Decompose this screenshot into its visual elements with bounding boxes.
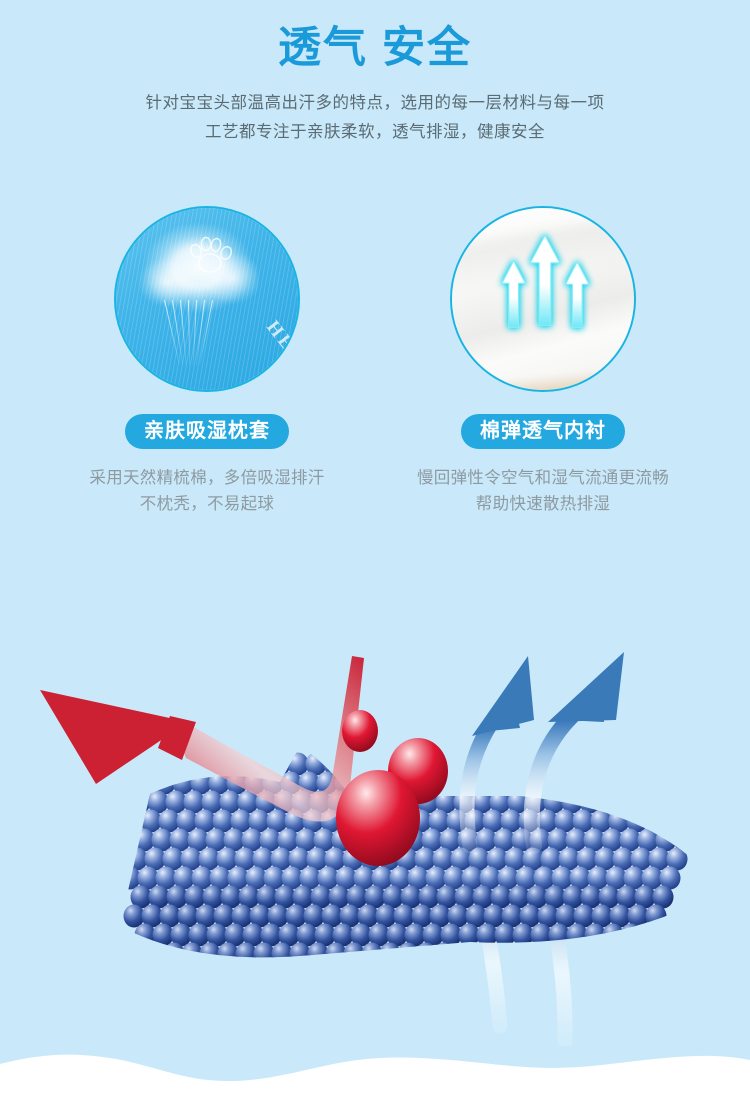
red-sweat-droplet xyxy=(342,710,378,752)
airflow-illustration xyxy=(0,596,750,1046)
feature-row: HER 亲肤吸湿枕套 采用天然精梳棉，多倍吸湿排汗 不枕秃，不易起球 xyxy=(0,206,750,518)
lining-photo-circle xyxy=(450,206,636,392)
feature-desc-lining: 慢回弹性令空气和湿气流通更流畅 帮助快速散热排湿 xyxy=(417,465,669,518)
page-title: 透气 安全 xyxy=(0,26,750,71)
desc-line-1: 慢回弹性令空气和湿气流通更流畅 xyxy=(417,465,669,491)
subtitle-line-2: 工艺都专注于亲肤柔软，透气排湿，健康安全 xyxy=(0,118,750,147)
pillowcase-photo-circle: HER xyxy=(114,206,300,392)
page-subtitle: 针对宝宝头部温高出汗多的特点，选用的每一层材料与每一项 工艺都专注于亲肤柔软，透… xyxy=(0,89,750,147)
desc-line-2: 不枕秃，不易起球 xyxy=(89,491,324,517)
desc-line-1: 采用天然精梳棉，多倍吸湿排汗 xyxy=(89,465,324,491)
breathability-arrows-group xyxy=(452,208,634,390)
wicking-streaks xyxy=(162,300,232,372)
product-detail-page: 透气 安全 针对宝宝头部温高出汗多的特点，选用的每一层材料与每一项 工艺都专注于… xyxy=(0,0,750,1108)
feature-desc-pillowcase: 采用天然精梳棉，多倍吸湿排汗 不枕秃，不易起球 xyxy=(89,465,324,518)
feature-pill-lining: 棉弹透气内衬 xyxy=(461,414,625,449)
red-sweat-droplet xyxy=(336,770,420,866)
mesh-airflow-svg xyxy=(0,596,750,1046)
subtitle-line-1: 针对宝宝头部温高出汗多的特点，选用的每一层材料与每一项 xyxy=(0,89,750,118)
paw-print-icon xyxy=(186,236,234,276)
feature-pill-pillowcase: 亲肤吸湿枕套 xyxy=(125,414,289,449)
page-header: 透气 安全 针对宝宝头部温高出汗多的特点，选用的每一层材料与每一项 工艺都专注于… xyxy=(0,0,750,147)
feature-pillowcase: HER 亲肤吸湿枕套 采用天然精梳棉，多倍吸湿排汗 不枕秃，不易起球 xyxy=(113,206,301,518)
bottom-wave-divider xyxy=(0,1038,750,1108)
feature-lining: 棉弹透气内衬 慢回弹性令空气和湿气流通更流畅 帮助快速散热排湿 xyxy=(449,206,637,518)
desc-line-2: 帮助快速散热排湿 xyxy=(417,491,669,517)
